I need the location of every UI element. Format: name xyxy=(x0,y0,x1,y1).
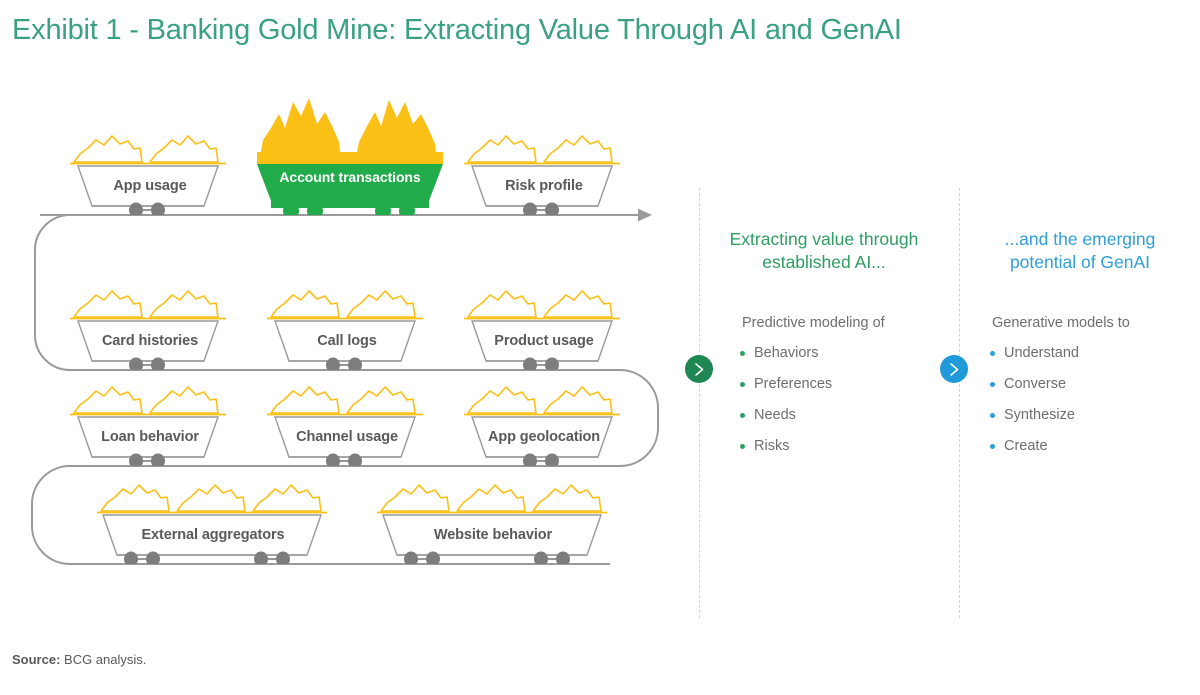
gold-pile-icon xyxy=(74,291,142,317)
column-heading-genai: ...and the emerging potential of GenAI xyxy=(974,228,1186,274)
column-subtitle-ai: Predictive modeling of xyxy=(742,314,924,333)
cart-website-behavior[interactable]: Website behavior xyxy=(373,467,613,564)
gold-pile-icon xyxy=(271,291,339,317)
gold-pile-icon xyxy=(544,291,612,317)
cart-card-histories[interactable]: Card histories xyxy=(68,273,232,370)
column-subtitle-genai: Generative models to xyxy=(992,314,1186,333)
gold-pile-icon xyxy=(101,485,169,511)
cart-body xyxy=(472,321,612,361)
cart-graphic xyxy=(68,369,232,466)
gold-pile-icon xyxy=(74,136,142,162)
cart-body xyxy=(78,417,218,457)
cart-body xyxy=(275,321,415,361)
list-item: Understand xyxy=(1004,344,1186,363)
list-item-label: Create xyxy=(1004,438,1048,454)
bullet-dot-icon xyxy=(990,351,995,356)
list-item: Risks xyxy=(754,437,924,456)
list-item: Converse xyxy=(1004,375,1186,394)
cart-app-geolocation[interactable]: App geolocation xyxy=(462,369,626,466)
source-note: Source: BCG analysis. xyxy=(12,652,146,667)
cart-graphic xyxy=(265,273,429,370)
gold-pile-icon xyxy=(253,485,321,511)
cart-channel-usage[interactable]: Channel usage xyxy=(265,369,429,466)
divider-left xyxy=(699,188,700,618)
list-item-label: Preferences xyxy=(754,376,832,392)
source-label: Source: xyxy=(12,652,60,667)
cart-account-transactions[interactable]: Account transactions xyxy=(255,94,445,215)
cart-call-logs[interactable]: Call logs xyxy=(265,273,429,370)
bullet-dot-icon xyxy=(990,444,995,449)
cart-body xyxy=(103,515,321,555)
list-item-label: Converse xyxy=(1004,376,1066,392)
gold-pile-icon xyxy=(468,291,536,317)
cart-graphic xyxy=(462,273,626,370)
list-item: Behaviors xyxy=(754,344,924,363)
chevron-right-glyph xyxy=(948,362,961,377)
cart-body xyxy=(472,417,612,457)
cart-app-usage[interactable]: App usage xyxy=(68,118,232,215)
list-item-label: Understand xyxy=(1004,345,1079,361)
cart-graphic xyxy=(68,118,232,215)
gold-pile-icon xyxy=(150,291,218,317)
gold-pile-icon xyxy=(271,387,339,413)
gold-pile-icon xyxy=(177,485,245,511)
cart-body xyxy=(257,164,443,206)
list-item: Needs xyxy=(754,406,924,425)
slide-canvas: Exhibit 1 - Banking Gold Mine: Extractin… xyxy=(0,0,1200,695)
column-established-ai: Extracting value through established AI.… xyxy=(724,228,924,468)
list-item-label: Risks xyxy=(754,438,789,454)
list-item: Preferences xyxy=(754,375,924,394)
chevron-right-icon-genai[interactable] xyxy=(940,355,968,383)
list-item: Synthesize xyxy=(1004,406,1186,425)
cart-graphic xyxy=(462,118,626,215)
bullet-dot-icon xyxy=(740,413,745,418)
page-title: Exhibit 1 - Banking Gold Mine: Extractin… xyxy=(12,14,902,47)
list-item-label: Behaviors xyxy=(754,345,818,361)
list-item-label: Synthesize xyxy=(1004,407,1075,423)
cart-body xyxy=(383,515,601,555)
gold-pile-icon xyxy=(544,387,612,413)
cart-body xyxy=(78,321,218,361)
cart-graphic xyxy=(68,273,232,370)
cart-risk-profile[interactable]: Risk profile xyxy=(462,118,626,215)
column-genai: ...and the emerging potential of GenAI G… xyxy=(974,228,1186,468)
divider-right xyxy=(959,188,960,618)
bullet-list-ai: Behaviors Preferences Needs Risks xyxy=(724,344,924,456)
bullet-list-genai: Understand Converse Synthesize Create xyxy=(974,344,1186,456)
bullet-dot-icon xyxy=(740,351,745,356)
cart-loan-behavior[interactable]: Loan behavior xyxy=(68,369,232,466)
cart-body xyxy=(275,417,415,457)
list-item-label: Needs xyxy=(754,407,796,423)
chevron-right-icon-ai[interactable] xyxy=(685,355,713,383)
gold-pile-icon xyxy=(468,136,536,162)
cart-graphic xyxy=(462,369,626,466)
mine-diagram: App usage Account transactions xyxy=(0,80,1200,625)
list-item: Create xyxy=(1004,437,1186,456)
gold-pile-icon xyxy=(468,387,536,413)
bullet-dot-icon xyxy=(990,413,995,418)
gold-pile-icon xyxy=(347,291,415,317)
cart-graphic xyxy=(265,369,429,466)
cart-product-usage[interactable]: Product usage xyxy=(462,273,626,370)
cart-graphic xyxy=(93,467,333,564)
gold-pile-icon xyxy=(457,485,525,511)
gold-pile-icon xyxy=(150,387,218,413)
cart-body xyxy=(472,166,612,206)
cart-graphic xyxy=(373,467,613,564)
gold-pile-icon xyxy=(544,136,612,162)
cart-external-aggregators[interactable]: External aggregators xyxy=(93,467,333,564)
bullet-dot-icon xyxy=(740,444,745,449)
gold-pile-icon xyxy=(381,485,449,511)
column-heading-ai: Extracting value through established AI.… xyxy=(724,228,924,274)
gold-pile-icon xyxy=(74,387,142,413)
cart-body xyxy=(78,166,218,206)
gold-pile-icon xyxy=(347,387,415,413)
source-text: BCG analysis. xyxy=(60,652,146,667)
bullet-dot-icon xyxy=(740,382,745,387)
chevron-right-glyph xyxy=(693,362,706,377)
cart-graphic xyxy=(255,94,445,215)
bullet-dot-icon xyxy=(990,382,995,387)
gold-pile-icon xyxy=(533,485,601,511)
gold-pile-icon xyxy=(150,136,218,162)
